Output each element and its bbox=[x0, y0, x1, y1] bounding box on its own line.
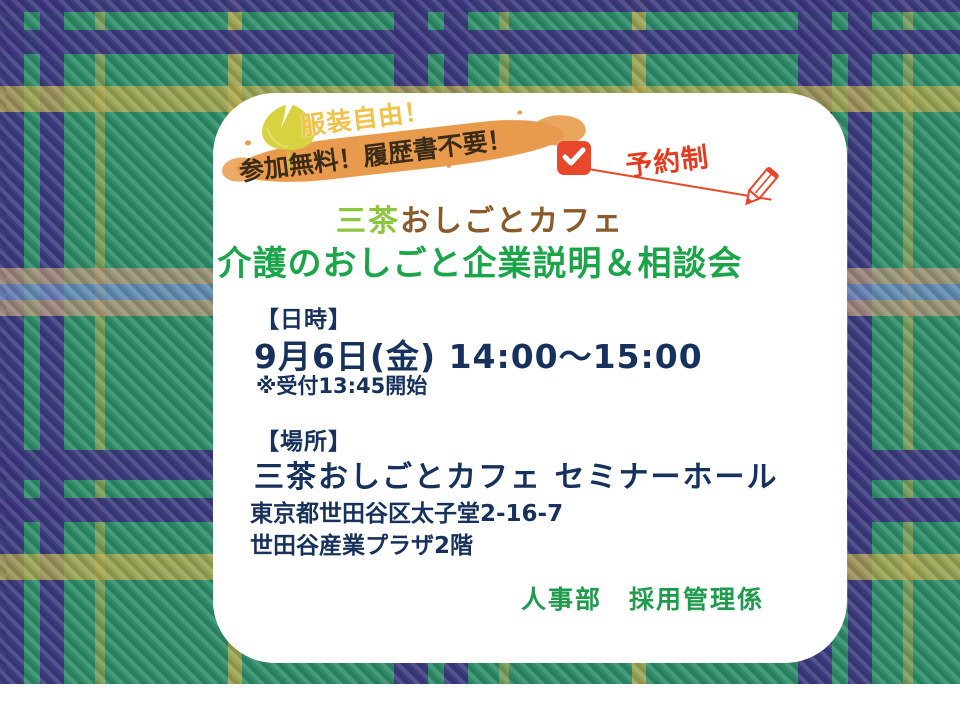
page-subtitle: 介護のおしごと企業説明＆相談会 bbox=[0, 236, 960, 285]
footer-department: 人事部 採用管理係 bbox=[521, 580, 764, 616]
datetime-label: 【日時】 bbox=[256, 300, 352, 334]
venue-address-line1: 東京都世田谷区太子堂2-16-7 bbox=[250, 494, 563, 528]
check-icon bbox=[557, 141, 591, 175]
bottom-white-band bbox=[0, 684, 960, 720]
poster-canvas: 服装自由！ 参加無料！履歴書不要！ 予約制 三茶おしごとカフェ 介護のおしごと企… bbox=[0, 0, 960, 720]
venue-value: 三茶おしごとカフェ セミナーホール bbox=[254, 452, 778, 496]
title-brand: 三茶 bbox=[336, 204, 400, 239]
title-brand-rest: おしごとカフェ bbox=[400, 204, 624, 239]
datetime-note: ※受付13:45開始 bbox=[256, 370, 427, 400]
venue-label: 【場所】 bbox=[256, 422, 352, 456]
page-title: 三茶おしごとカフェ bbox=[0, 196, 960, 240]
venue-address-line2: 世田谷産業プラザ2階 bbox=[250, 526, 473, 560]
